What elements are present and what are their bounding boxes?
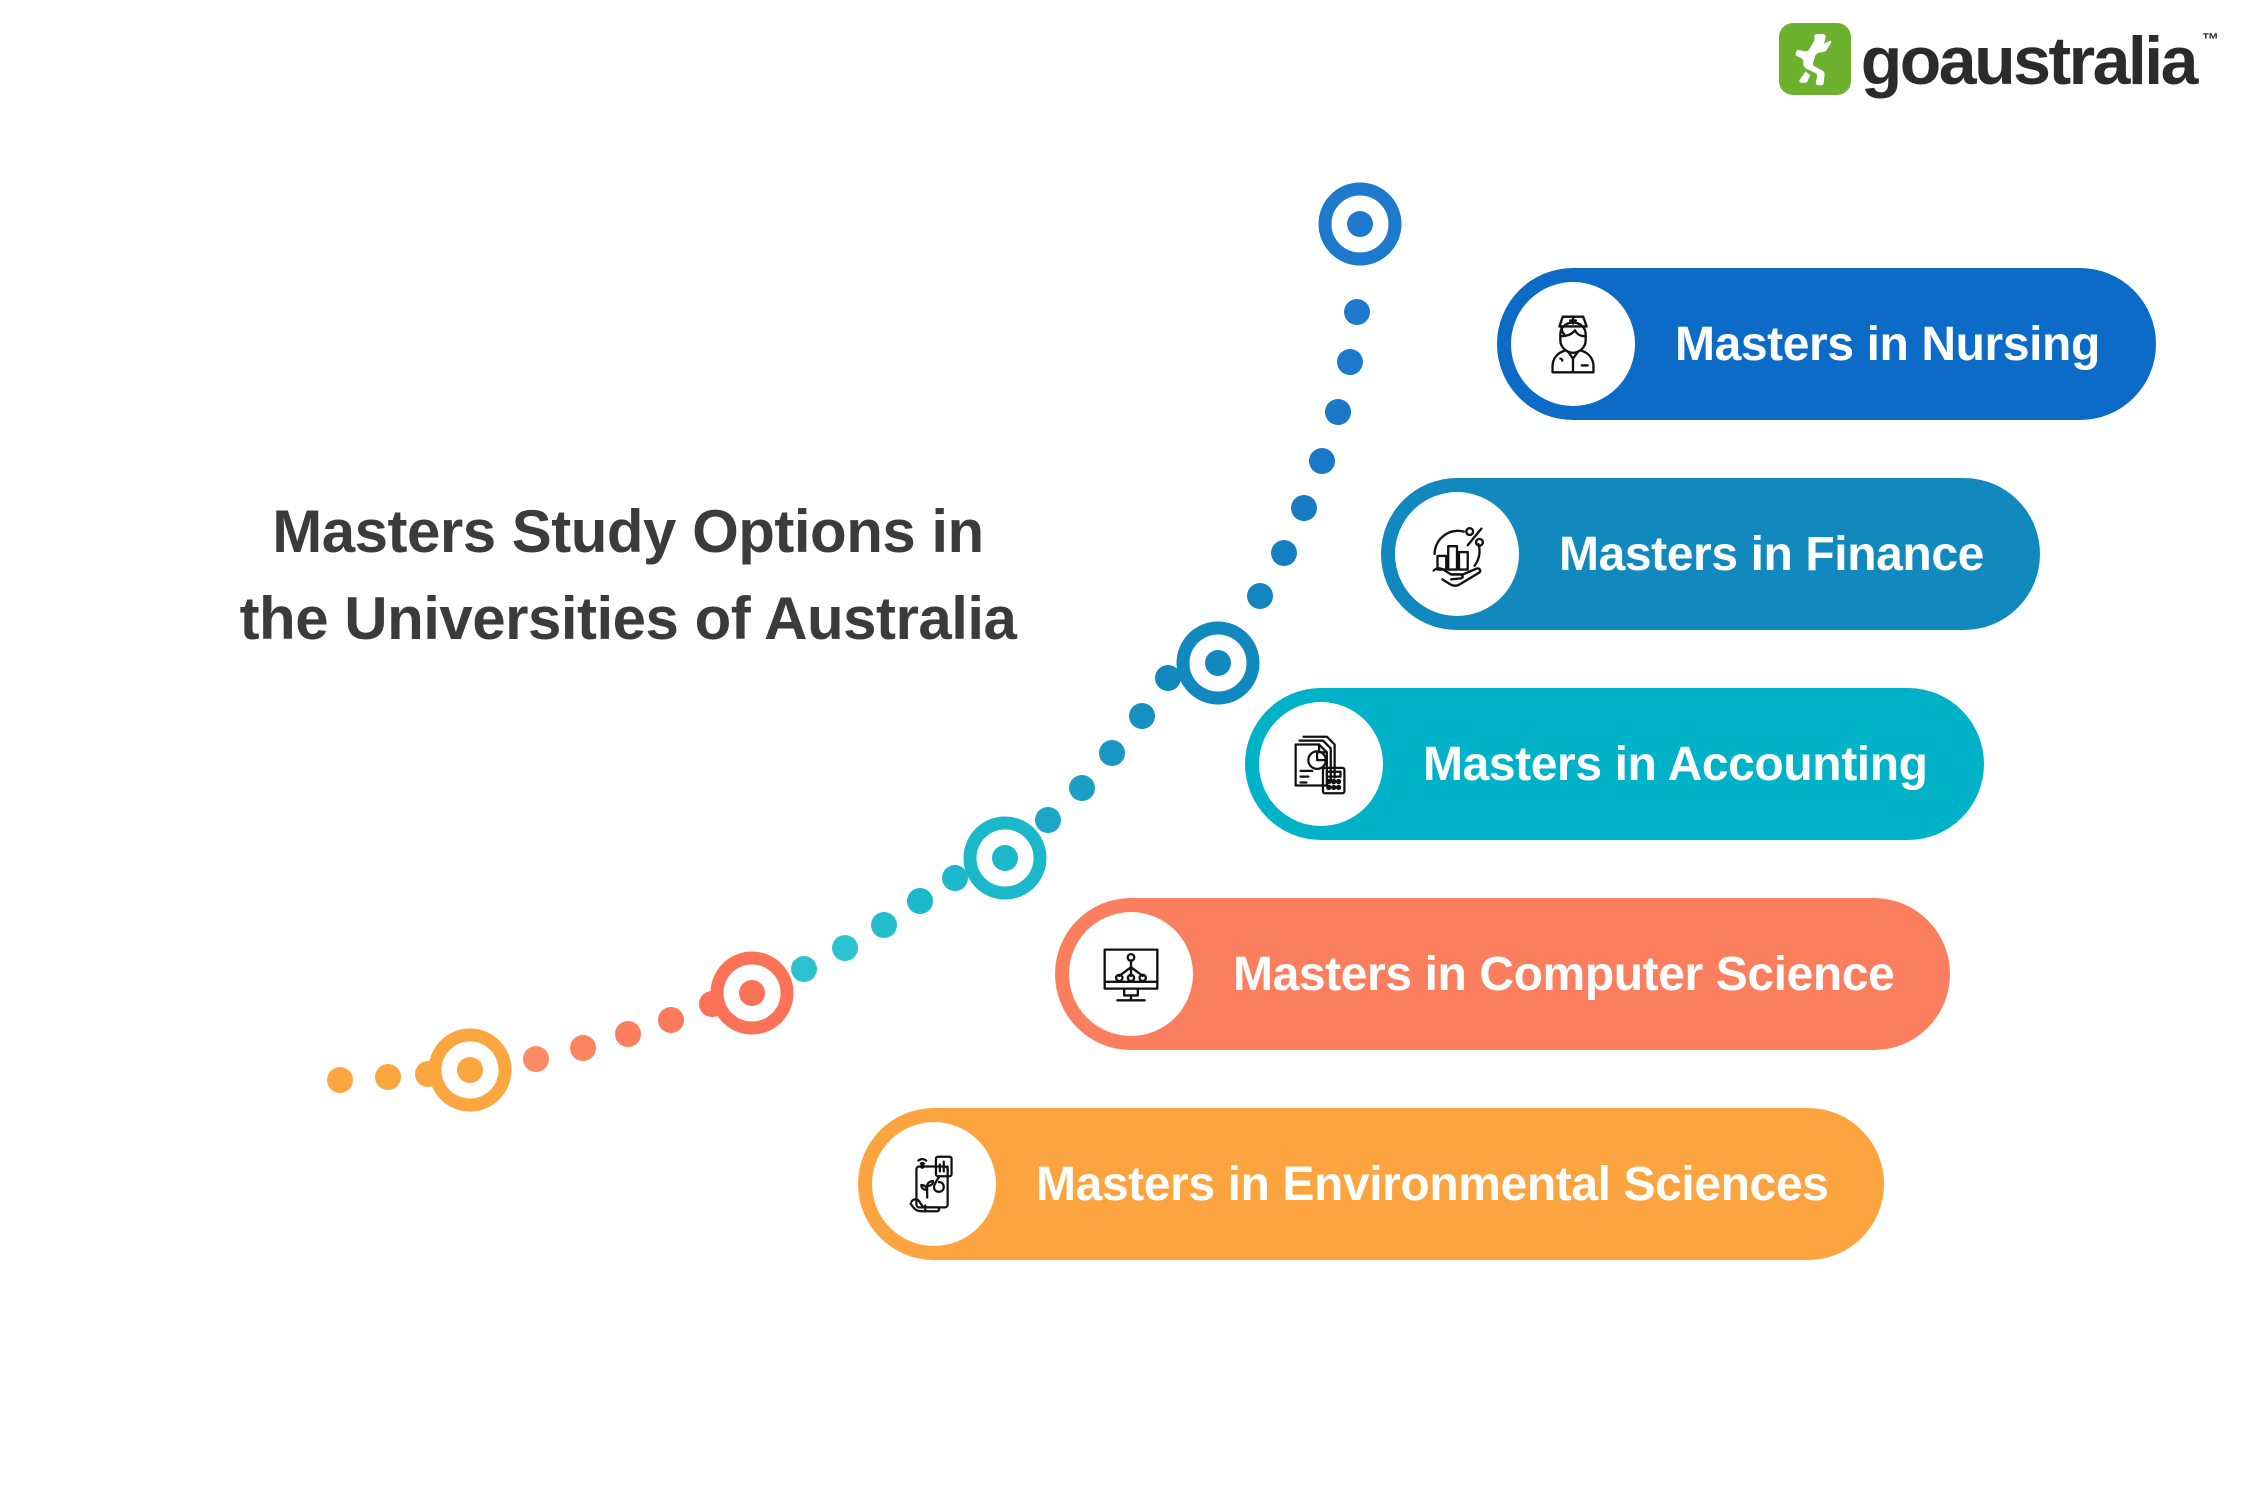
trajectory-dot (1069, 775, 1095, 801)
trajectory-dot (375, 1064, 401, 1090)
trajectory-marker (1183, 628, 1253, 698)
trajectory-dot (942, 865, 968, 891)
trajectory-dot (907, 888, 933, 914)
trajectory-dot (1129, 703, 1155, 729)
trajectory-dot (1271, 540, 1297, 566)
option-label-environmental-sciences: Masters in Environmental Sciences (1036, 1157, 1828, 1212)
document-pie-chart-calculator-icon (1259, 702, 1383, 826)
trajectory-dot (1344, 299, 1370, 325)
trajectory-marker (970, 823, 1040, 893)
trajectory-dot (699, 991, 725, 1017)
option-pill-finance[interactable]: Masters in Finance (1381, 478, 2040, 630)
option-label-computer-science: Masters in Computer Science (1233, 947, 1894, 1002)
option-label-finance: Masters in Finance (1559, 527, 1984, 582)
trajectory-dot (1325, 399, 1351, 425)
hand-bar-chart-percent-icon (1395, 492, 1519, 616)
brand-wordmark: goaustralia (1861, 27, 2196, 95)
option-pill-accounting[interactable]: Masters in Accounting (1245, 688, 1984, 840)
trademark-symbol: ™ (2202, 30, 2219, 50)
page-title: Masters Study Options in the Universitie… (128, 488, 1128, 662)
trajectory-dot (1309, 448, 1335, 474)
option-pill-nursing[interactable]: Masters in Nursing (1497, 268, 2156, 420)
option-pill-environmental-sciences[interactable]: Masters in Environmental Sciences (858, 1108, 1884, 1260)
trajectory-dot (615, 1021, 641, 1047)
trajectory-dot (1035, 807, 1061, 833)
page-title-line-2: the Universities of Australia (128, 575, 1128, 662)
trajectory-dot (523, 1046, 549, 1072)
monitor-network-tree-icon (1069, 912, 1193, 1036)
infographic-canvas: goaustralia ™ Masters Study Options in t… (0, 0, 2257, 1494)
trajectory-dot (1337, 349, 1363, 375)
trajectory-dot (327, 1067, 353, 1093)
trajectory-dot (1155, 665, 1181, 691)
trajectory-dot (871, 912, 897, 938)
option-label-accounting: Masters in Accounting (1423, 737, 1928, 792)
brand-logo[interactable]: goaustralia ™ (1779, 18, 2219, 100)
nurse-icon (1511, 282, 1635, 406)
trajectory-marker (717, 958, 787, 1028)
option-pill-computer-science[interactable]: Masters in Computer Science (1055, 898, 1950, 1050)
kangaroo-icon (1779, 23, 1851, 95)
trajectory-marker (435, 1035, 505, 1105)
trajectory-dot (832, 935, 858, 961)
trajectory-dot (415, 1061, 441, 1087)
trajectory-dot (658, 1007, 684, 1033)
trajectory-dot (1291, 495, 1317, 521)
option-label-nursing: Masters in Nursing (1675, 317, 2100, 372)
trajectory-marker (1325, 189, 1395, 259)
trajectory-dot (570, 1035, 596, 1061)
hand-tablet-plant-icon (872, 1122, 996, 1246)
trajectory-dot (1247, 583, 1273, 609)
page-title-line-1: Masters Study Options in (128, 488, 1128, 575)
trajectory-dot (791, 956, 817, 982)
trajectory-dot (1099, 740, 1125, 766)
